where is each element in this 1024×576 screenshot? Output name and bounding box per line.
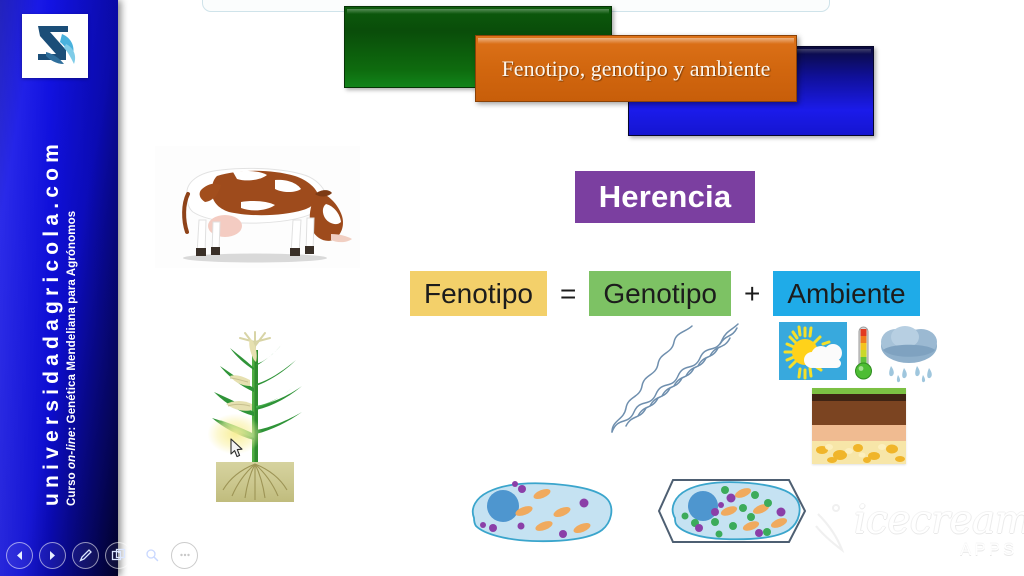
sidebar-brand: universidadagricola.com: [41, 139, 62, 506]
next-slide-button[interactable]: [39, 542, 66, 569]
weather-icons-group: [779, 322, 945, 384]
pencil-icon: [78, 548, 93, 563]
soil-rock-fragments: [812, 441, 906, 464]
pen-tool-button[interactable]: [72, 542, 99, 569]
soil-layer-parent-rock: [812, 441, 906, 464]
sidebar-text-block: universidadagricola.com Curso on-line: G…: [24, 36, 94, 506]
course-suffix: : Genética Mendeliana para Agrónomos: [66, 211, 78, 431]
dna-helix-illustration: [606, 316, 746, 438]
player-toolbar[interactable]: [6, 540, 198, 570]
triangle-left-icon: [13, 549, 26, 562]
soil-profile-image: [812, 388, 906, 464]
mouse-cursor-icon: [230, 438, 244, 458]
course-italic: on-line: [66, 431, 78, 469]
watermark-name: icecream: [854, 498, 1024, 543]
soil-layer-organic: [812, 394, 906, 401]
ellipsis-icon: [178, 548, 192, 562]
page-title: Fenotipo, genotipo y ambiente: [490, 56, 783, 82]
sidebar-course-line: Curso on-line: Genética Mendeliana para …: [66, 211, 78, 506]
previous-slide-button[interactable]: [6, 542, 33, 569]
equation-plus-sign: +: [731, 278, 773, 310]
slide-title-box: Fenotipo, genotipo y ambiente: [475, 35, 797, 102]
soil-layer-topsoil: [812, 401, 906, 425]
magnifier-icon: [145, 548, 159, 562]
plant-cell-diagram: [655, 476, 807, 546]
more-options-button[interactable]: [171, 542, 198, 569]
phenotype-equation: Fenotipo = Genotipo + Ambiente: [410, 271, 920, 316]
zoom-tool-button[interactable]: [138, 542, 165, 569]
cow-illustration: [155, 146, 360, 268]
herencia-label: Herencia: [599, 179, 732, 215]
soil-layer-subsoil: [812, 425, 906, 441]
equation-genotype-chip: Genotipo: [589, 271, 731, 316]
watermark-sub: APPS: [960, 540, 1017, 560]
animal-cell-diagram: [466, 478, 618, 546]
icecream-apps-watermark: icecream APPS: [812, 492, 1018, 568]
weather-illustration: [779, 322, 945, 384]
copy-windows-icon: [111, 548, 126, 563]
cow-image: [155, 146, 360, 268]
slide-canvas: Fenotipo, genotipo y ambiente: [0, 0, 1024, 576]
left-sidebar: universidadagricola.com Curso on-line: G…: [0, 0, 118, 576]
course-prefix: Curso: [66, 469, 78, 506]
equation-phenotype-chip: Fenotipo: [410, 271, 547, 316]
equation-equals-sign: =: [547, 278, 589, 310]
herencia-heading-box: Herencia: [575, 171, 755, 223]
equation-environment-chip: Ambiente: [773, 271, 919, 316]
duplicate-window-button[interactable]: [105, 542, 132, 569]
triangle-right-icon: [46, 549, 59, 562]
